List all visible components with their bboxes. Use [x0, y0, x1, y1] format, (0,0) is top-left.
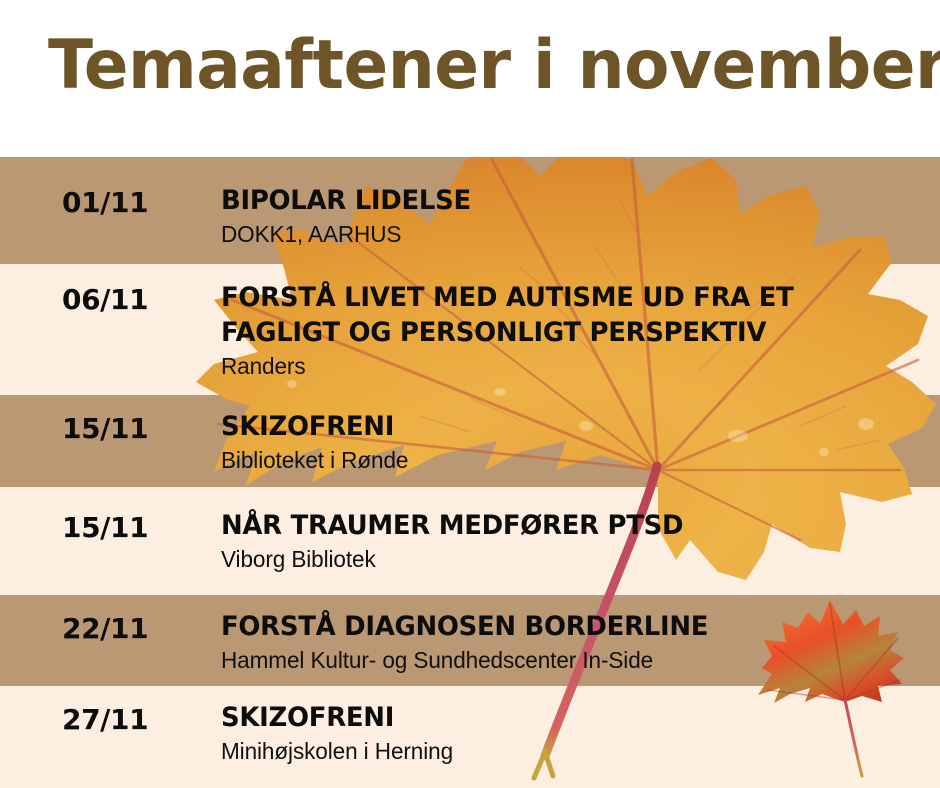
event-venue: Viborg Bibliotek [221, 544, 907, 574]
event-venue: Minihøjskolen i Herning [221, 736, 907, 766]
list-item[interactable]: 15/11 SKIZOFRENI Biblioteket i Rønde [0, 395, 940, 487]
list-item[interactable]: 27/11 SKIZOFRENI Minihøjskolen i Herning [0, 686, 940, 788]
list-item[interactable]: 01/11 BIPOLAR LIDELSE DOKK1, AARHUS [0, 157, 940, 264]
poster-canvas: Temaaftener i november 01/11 BIPOLAR LID… [0, 0, 940, 788]
event-venue: Hammel Kultur- og Sundhedscenter In-Side [221, 645, 907, 675]
event-venue: Randers [221, 351, 907, 381]
event-date: 27/11 [62, 703, 148, 736]
event-title: SKIZOFRENI [221, 409, 893, 444]
header-band: Temaaftener i november [0, 0, 940, 157]
event-title: FORSTÅ DIAGNOSEN BORDERLINE [221, 609, 893, 644]
event-title: NÅR TRAUMER MEDFØRER PTSD [221, 508, 893, 543]
event-date: 06/11 [62, 283, 148, 316]
list-item[interactable]: 15/11 NÅR TRAUMER MEDFØRER PTSD Viborg B… [0, 487, 940, 595]
event-date: 22/11 [62, 612, 148, 645]
event-body: FORSTÅ LIVET MED AUTISME UD FRA ET FAGLI… [221, 280, 921, 381]
event-body: SKIZOFRENI Minihøjskolen i Herning [221, 700, 921, 766]
event-date: 15/11 [62, 511, 148, 544]
event-body: NÅR TRAUMER MEDFØRER PTSD Viborg Bibliot… [221, 508, 921, 574]
event-date: 01/11 [62, 186, 148, 219]
list-item[interactable]: 06/11 FORSTÅ LIVET MED AUTISME UD FRA ET… [0, 264, 940, 395]
page-title: Temaaftener i november [48, 26, 940, 106]
list-item[interactable]: 22/11 FORSTÅ DIAGNOSEN BORDERLINE Hammel… [0, 595, 940, 686]
event-body: BIPOLAR LIDELSE DOKK1, AARHUS [221, 183, 921, 249]
event-body: FORSTÅ DIAGNOSEN BORDERLINE Hammel Kultu… [221, 609, 921, 675]
event-date: 15/11 [62, 412, 148, 445]
event-venue: Biblioteket i Rønde [221, 445, 907, 475]
event-title: SKIZOFRENI [221, 700, 893, 735]
event-venue: DOKK1, AARHUS [221, 219, 907, 249]
event-body: SKIZOFRENI Biblioteket i Rønde [221, 409, 921, 475]
event-title: FORSTÅ LIVET MED AUTISME UD FRA ET FAGLI… [221, 280, 893, 350]
event-title: BIPOLAR LIDELSE [221, 183, 893, 218]
